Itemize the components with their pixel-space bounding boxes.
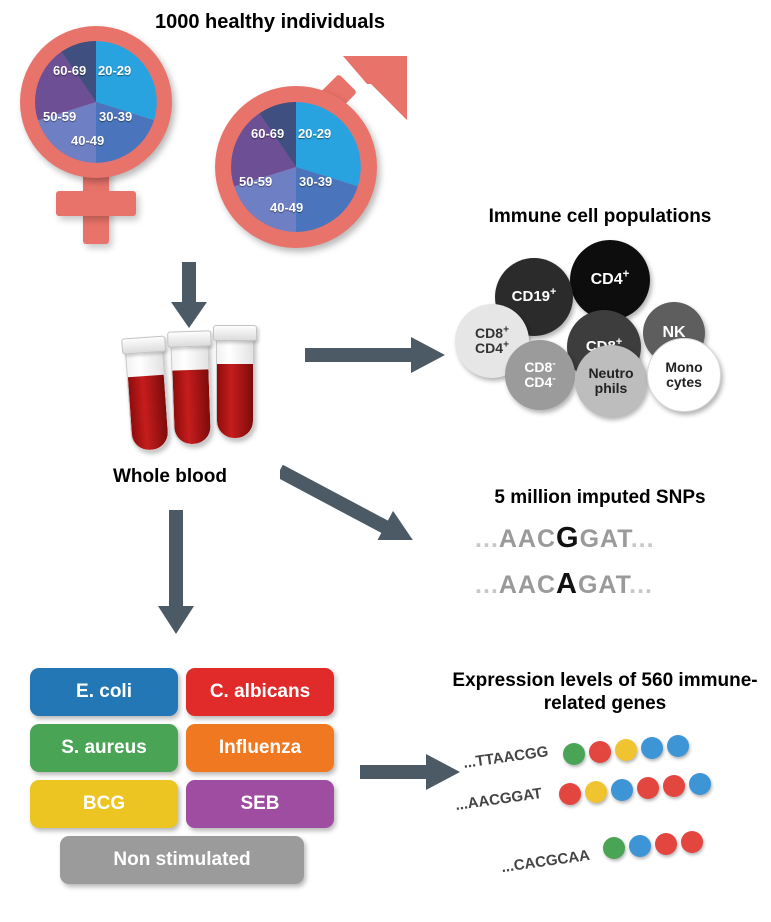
bead-blue bbox=[667, 735, 689, 757]
blood-tube-1 bbox=[124, 336, 168, 450]
male-cohort-symbol: 20-29 30-39 40-49 50-59 60-69 bbox=[195, 48, 425, 258]
cell-label: Monocytes bbox=[665, 360, 702, 389]
female-wedge-label-30-39: 30-39 bbox=[99, 109, 132, 124]
stimulus-label: BCG bbox=[83, 793, 125, 815]
tube-cap bbox=[121, 336, 166, 355]
snp-variant-allele-1: G bbox=[556, 522, 580, 554]
female-wedge-label-60-69: 60-69 bbox=[53, 63, 86, 78]
bead-yellow bbox=[585, 781, 607, 803]
expression-sequence-3: ...CACGCAA bbox=[500, 847, 591, 876]
figure-canvas: 1000 healthy individuals 20-29 30-39 40-… bbox=[0, 0, 771, 922]
tube-blood bbox=[217, 364, 253, 438]
snps-title: 5 million imputed SNPs bbox=[440, 487, 760, 510]
female-wedge-label-20-29: 20-29 bbox=[98, 63, 131, 78]
expression-title: Expression levels of 560 immune-related … bbox=[450, 670, 760, 716]
stimulus-label: Influenza bbox=[219, 737, 301, 759]
tube-cap bbox=[167, 330, 212, 348]
bead-green bbox=[603, 837, 625, 859]
immune-title: Immune cell populations bbox=[440, 206, 760, 229]
bead-red bbox=[655, 833, 677, 855]
blood-tube-2 bbox=[170, 330, 210, 443]
tube-glass bbox=[125, 346, 170, 452]
stimulus-label: Non stimulated bbox=[113, 849, 250, 871]
cell-cd4-positive: CD4+ bbox=[570, 240, 650, 320]
snp-bases-right: GAT bbox=[580, 525, 631, 553]
snp-variant-allele-2: A bbox=[556, 568, 578, 600]
male-wedge-label-40-49: 40-49 bbox=[270, 200, 303, 215]
bead-green bbox=[563, 743, 585, 765]
bead-blue bbox=[689, 773, 711, 795]
bead-red bbox=[589, 741, 611, 763]
stimulus-c-albicans[interactable]: C. albicans bbox=[186, 668, 334, 716]
cell-label: Neutrophils bbox=[588, 366, 633, 395]
female-stem-horizontal bbox=[56, 191, 136, 216]
cell-label: CD4+ bbox=[591, 272, 630, 289]
cell-label: CD8+CD4+ bbox=[475, 326, 509, 355]
snp-prefix: ... bbox=[475, 525, 499, 553]
expression-graphic: ...TTAACGG ...AACGGAT ...CACGCAA bbox=[455, 735, 765, 900]
bead-yellow bbox=[615, 739, 637, 761]
snp-suffix: ... bbox=[629, 571, 653, 599]
male-wedge-label-20-29: 20-29 bbox=[298, 126, 331, 141]
tube-glass bbox=[216, 335, 254, 439]
stimulus-seb[interactable]: SEB bbox=[186, 780, 334, 828]
snp-bases-left: AAC bbox=[499, 525, 556, 553]
cell-monocytes: Monocytes bbox=[647, 338, 721, 412]
stimuli-panel: E. coli C. albicans S. aureus Influenza … bbox=[30, 668, 340, 888]
cell-neutrophils: Neutrophils bbox=[575, 345, 647, 417]
immune-cell-cluster: CD4+ CD19+ CD8+ NK CD8+CD4+ CD8-CD4- Neu… bbox=[455, 240, 755, 415]
male-wedge-label-60-69: 60-69 bbox=[251, 126, 284, 141]
snp-row-1: ...AACGGAT... bbox=[475, 522, 655, 555]
snp-bases-left: AAC bbox=[499, 571, 556, 599]
expression-sequence-2: ...AACGGAT bbox=[454, 785, 543, 814]
bead-blue bbox=[611, 779, 633, 801]
cell-cd8-cd4-double-negative: CD8-CD4- bbox=[505, 340, 575, 410]
stimulus-influenza[interactable]: Influenza bbox=[186, 724, 334, 772]
cell-label: CD8-CD4- bbox=[524, 360, 555, 389]
stimulus-bcg[interactable]: BCG bbox=[30, 780, 178, 828]
cell-label: CD19+ bbox=[512, 289, 557, 305]
snp-sequences: ...AACGGAT... ...AACAGAT... bbox=[455, 522, 755, 622]
snp-suffix: ... bbox=[631, 525, 655, 553]
arrow-blood-to-stimuli bbox=[152, 510, 212, 640]
blood-tube-3 bbox=[216, 325, 252, 437]
stimulus-label: SEB bbox=[240, 793, 279, 815]
female-cohort-symbol: 20-29 30-39 40-49 50-59 60-69 bbox=[8, 14, 208, 244]
tube-glass bbox=[170, 340, 212, 445]
stimulus-non-stimulated[interactable]: Non stimulated bbox=[60, 836, 304, 884]
snp-prefix: ... bbox=[475, 571, 499, 599]
stimulus-label: S. aureus bbox=[61, 737, 147, 759]
bead-blue bbox=[629, 835, 651, 857]
whole-blood-label: Whole blood bbox=[60, 466, 280, 488]
arrow-blood-to-immune bbox=[305, 330, 455, 380]
male-wedge-label-30-39: 30-39 bbox=[299, 174, 332, 189]
tube-cap bbox=[213, 325, 257, 341]
bead-red bbox=[681, 831, 703, 853]
expression-sequence-1: ...TTAACGG bbox=[462, 743, 549, 772]
male-pie: 20-29 30-39 40-49 50-59 60-69 bbox=[231, 102, 361, 232]
male-wedge-label-50-59: 50-59 bbox=[239, 174, 272, 189]
stimulus-label: C. albicans bbox=[210, 681, 310, 703]
stimulus-s-aureus[interactable]: S. aureus bbox=[30, 724, 178, 772]
bead-red bbox=[637, 777, 659, 799]
bead-blue bbox=[641, 737, 663, 759]
female-wedge-label-50-59: 50-59 bbox=[43, 109, 76, 124]
tube-blood bbox=[172, 369, 211, 444]
bead-red bbox=[663, 775, 685, 797]
tube-blood bbox=[128, 375, 169, 451]
snp-row-2: ...AACAGAT... bbox=[475, 568, 653, 601]
bead-red bbox=[559, 783, 581, 805]
female-pie: 20-29 30-39 40-49 50-59 60-69 bbox=[35, 41, 157, 163]
blood-tubes bbox=[110, 325, 300, 455]
arrow-cohort-to-blood bbox=[160, 262, 220, 332]
stimulus-e-coli[interactable]: E. coli bbox=[30, 668, 178, 716]
arrow-stimuli-to-expression bbox=[360, 748, 470, 796]
arrow-blood-to-snps bbox=[280, 430, 460, 540]
stimulus-label: E. coli bbox=[76, 681, 132, 703]
female-wedge-label-40-49: 40-49 bbox=[71, 133, 104, 148]
snp-bases-right: GAT bbox=[578, 571, 629, 599]
